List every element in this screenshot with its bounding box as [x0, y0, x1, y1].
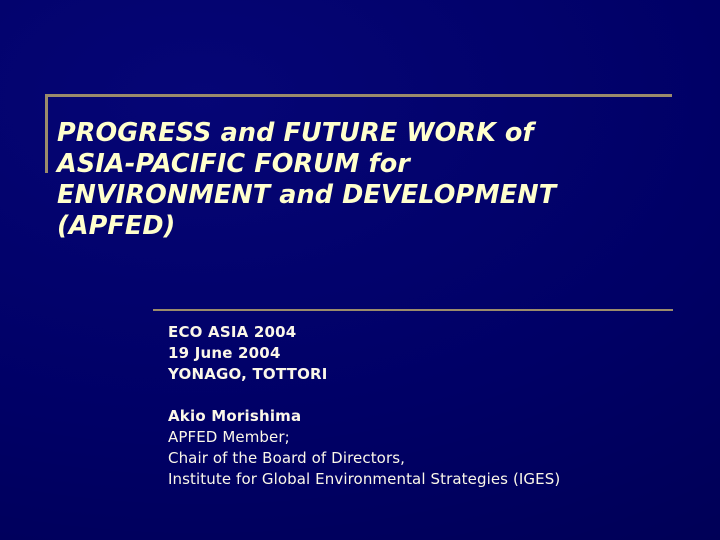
title-rule-horizontal: [45, 94, 672, 97]
presentation-slide: PROGRESS and FUTURE WORK of ASIA-PACIFIC…: [0, 0, 720, 540]
presenter-name: Akio Morishima: [168, 406, 301, 427]
slide-title: PROGRESS and FUTURE WORK of ASIA-PACIFIC…: [57, 118, 667, 242]
presenter-affiliation-block: APFED Member; Chair of the Board of Dire…: [168, 427, 560, 490]
subtitle-divider-rule: [153, 309, 673, 311]
event-details-block: ECO ASIA 2004 19 June 2004 YONAGO, TOTTO…: [168, 322, 328, 385]
title-rule-vertical: [45, 94, 48, 173]
